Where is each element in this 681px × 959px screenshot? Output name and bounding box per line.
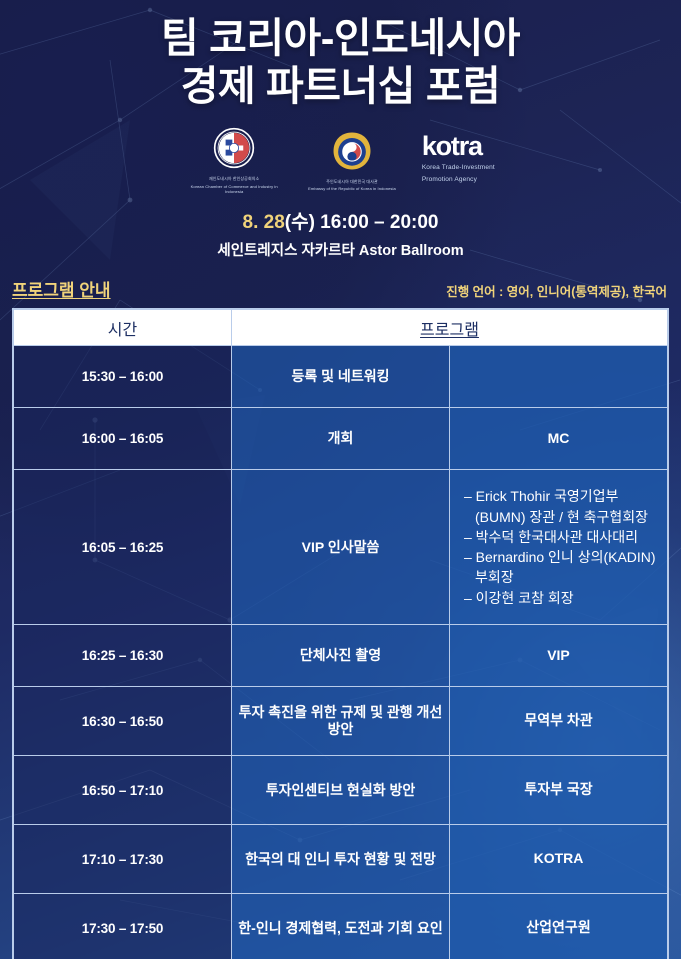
row-time: 16:30 – 16:50 (14, 687, 232, 756)
event-venue: 세인트레지스 자카르타 Astor Ballroom (0, 239, 681, 260)
row-time: 15:30 – 16:00 (14, 346, 232, 408)
kocham-emblem-icon (213, 127, 255, 169)
row-time: 17:10 – 17:30 (14, 825, 232, 894)
column-header-time: 시간 (14, 310, 232, 346)
program-heading-bar: 프로그램 안내 진행 언어 : 영어, 인니어(통역제공), 한국어 (0, 276, 681, 301)
language-note: 진행 언어 : 영어, 인니어(통역제공), 한국어 (446, 281, 667, 300)
event-date: 8. 28 (243, 212, 285, 233)
row-time: 17:30 – 17:50 (14, 894, 232, 959)
table-row: 16:50 – 17:10 투자인센티브 현실화 방안 투자부 국장 (14, 756, 668, 825)
embassy-caption-en: Embassy of the Republic of Korea in Indo… (308, 186, 396, 192)
organizer-logos: 재인도네시아 한인상공회의소 Korean Chamber of Commerc… (0, 127, 681, 195)
row-time: 16:50 – 17:10 (14, 756, 232, 825)
speaker-name: – 박수덕 한국대사관 대사대리 (464, 527, 659, 547)
row-program: 투자 촉진을 위한 규제 및 관행 개선방안 (232, 687, 450, 756)
poster-header: 팀 코리아-인도네시아 경제 파트너십 포럼 (0, 0, 681, 111)
kotra-subtitle-line-2: Promotion Agency (422, 175, 495, 184)
kotra-wordmark: kotra (422, 133, 495, 160)
row-time: 16:00 – 16:05 (14, 408, 232, 470)
kotra-logo: kotra Korea Trade-Investment Promotion A… (422, 133, 495, 189)
column-header-program: 프로그램 (232, 310, 668, 346)
forum-poster: 팀 코리아-인도네시아 경제 파트너십 포럼 재인도네시아 한인상공회의소 Ko… (0, 0, 681, 959)
row-speaker: 산업연구원 (450, 894, 668, 959)
schedule-table-container: 시간 프로그램 15:30 – 16:00 등록 및 네트워킹 16:00 – … (12, 308, 669, 959)
event-datetime: 8. 28(수) 16:00 – 20:00 (0, 207, 681, 234)
kocham-caption-en: Korean Chamber of Commerce and Industry … (186, 184, 282, 196)
title-line-1: 팀 코리아-인도네시아 (0, 14, 681, 62)
row-program: 등록 및 네트워킹 (232, 346, 450, 408)
row-speaker: VIP (450, 625, 668, 687)
schedule-table: 시간 프로그램 15:30 – 16:00 등록 및 네트워킹 16:00 – … (13, 309, 668, 959)
table-header-row: 시간 프로그램 (14, 310, 668, 346)
embassy-emblem-icon (331, 130, 373, 172)
row-speaker: 투자부 국장 (450, 756, 668, 825)
korean-embassy-logo: 주인도네시아 대한민국 대사관 Embassy of the Republic … (308, 130, 396, 193)
kocham-logo: 재인도네시아 한인상공회의소 Korean Chamber of Commerc… (186, 127, 282, 195)
row-program: VIP 인사말씀 (232, 470, 450, 625)
kocham-caption-ko: 재인도네시아 한인상공회의소 (186, 176, 282, 182)
row-speaker: MC (450, 408, 668, 470)
event-day-time: (수) 16:00 – 20:00 (285, 212, 439, 233)
table-row: 16:25 – 16:30 단체사진 촬영 VIP (14, 625, 668, 687)
speaker-name: – Erick Thohir 국영기업부(BUMN) 장관 / 현 축구협회장 (464, 486, 659, 527)
row-speaker-list: – Erick Thohir 국영기업부(BUMN) 장관 / 현 축구협회장 … (450, 470, 668, 625)
row-program: 한-인니 경제협력, 도전과 기회 요인 (232, 894, 450, 959)
table-row: 16:00 – 16:05 개회 MC (14, 408, 668, 470)
title-line-2: 경제 파트너십 포럼 (0, 62, 681, 110)
table-row: 17:30 – 17:50 한-인니 경제협력, 도전과 기회 요인 산업연구원 (14, 894, 668, 959)
row-time: 16:05 – 16:25 (14, 470, 232, 625)
speaker-name: – 이강현 코참 회장 (464, 588, 659, 608)
row-program: 단체사진 촬영 (232, 625, 450, 687)
row-speaker: 무역부 차관 (450, 687, 668, 756)
table-row: 17:10 – 17:30 한국의 대 인니 투자 현황 및 전망 KOTRA (14, 825, 668, 894)
program-heading: 프로그램 안내 (12, 276, 111, 301)
page-title: 팀 코리아-인도네시아 경제 파트너십 포럼 (0, 14, 681, 111)
row-time: 16:25 – 16:30 (14, 625, 232, 687)
table-row: 15:30 – 16:00 등록 및 네트워킹 (14, 346, 668, 408)
kotra-subtitle-line-1: Korea Trade-Investment (422, 163, 495, 172)
row-speaker (450, 346, 668, 408)
table-row-vip-remarks: 16:05 – 16:25 VIP 인사말씀 – Erick Thohir 국영… (14, 470, 668, 625)
table-row: 16:30 – 16:50 투자 촉진을 위한 규제 및 관행 개선방안 무역부… (14, 687, 668, 756)
row-program: 투자인센티브 현실화 방안 (232, 756, 450, 825)
row-program: 개회 (232, 408, 450, 470)
row-program: 한국의 대 인니 투자 현황 및 전망 (232, 825, 450, 894)
speaker-name: – Bernardino 인니 상의(KADIN) 부회장 (464, 547, 659, 588)
schedule-table-head: 시간 프로그램 (14, 310, 668, 346)
schedule-table-body: 15:30 – 16:00 등록 및 네트워킹 16:00 – 16:05 개회… (14, 346, 668, 959)
embassy-caption-ko: 주인도네시아 대한민국 대사관 (308, 179, 396, 185)
row-speaker: KOTRA (450, 825, 668, 894)
